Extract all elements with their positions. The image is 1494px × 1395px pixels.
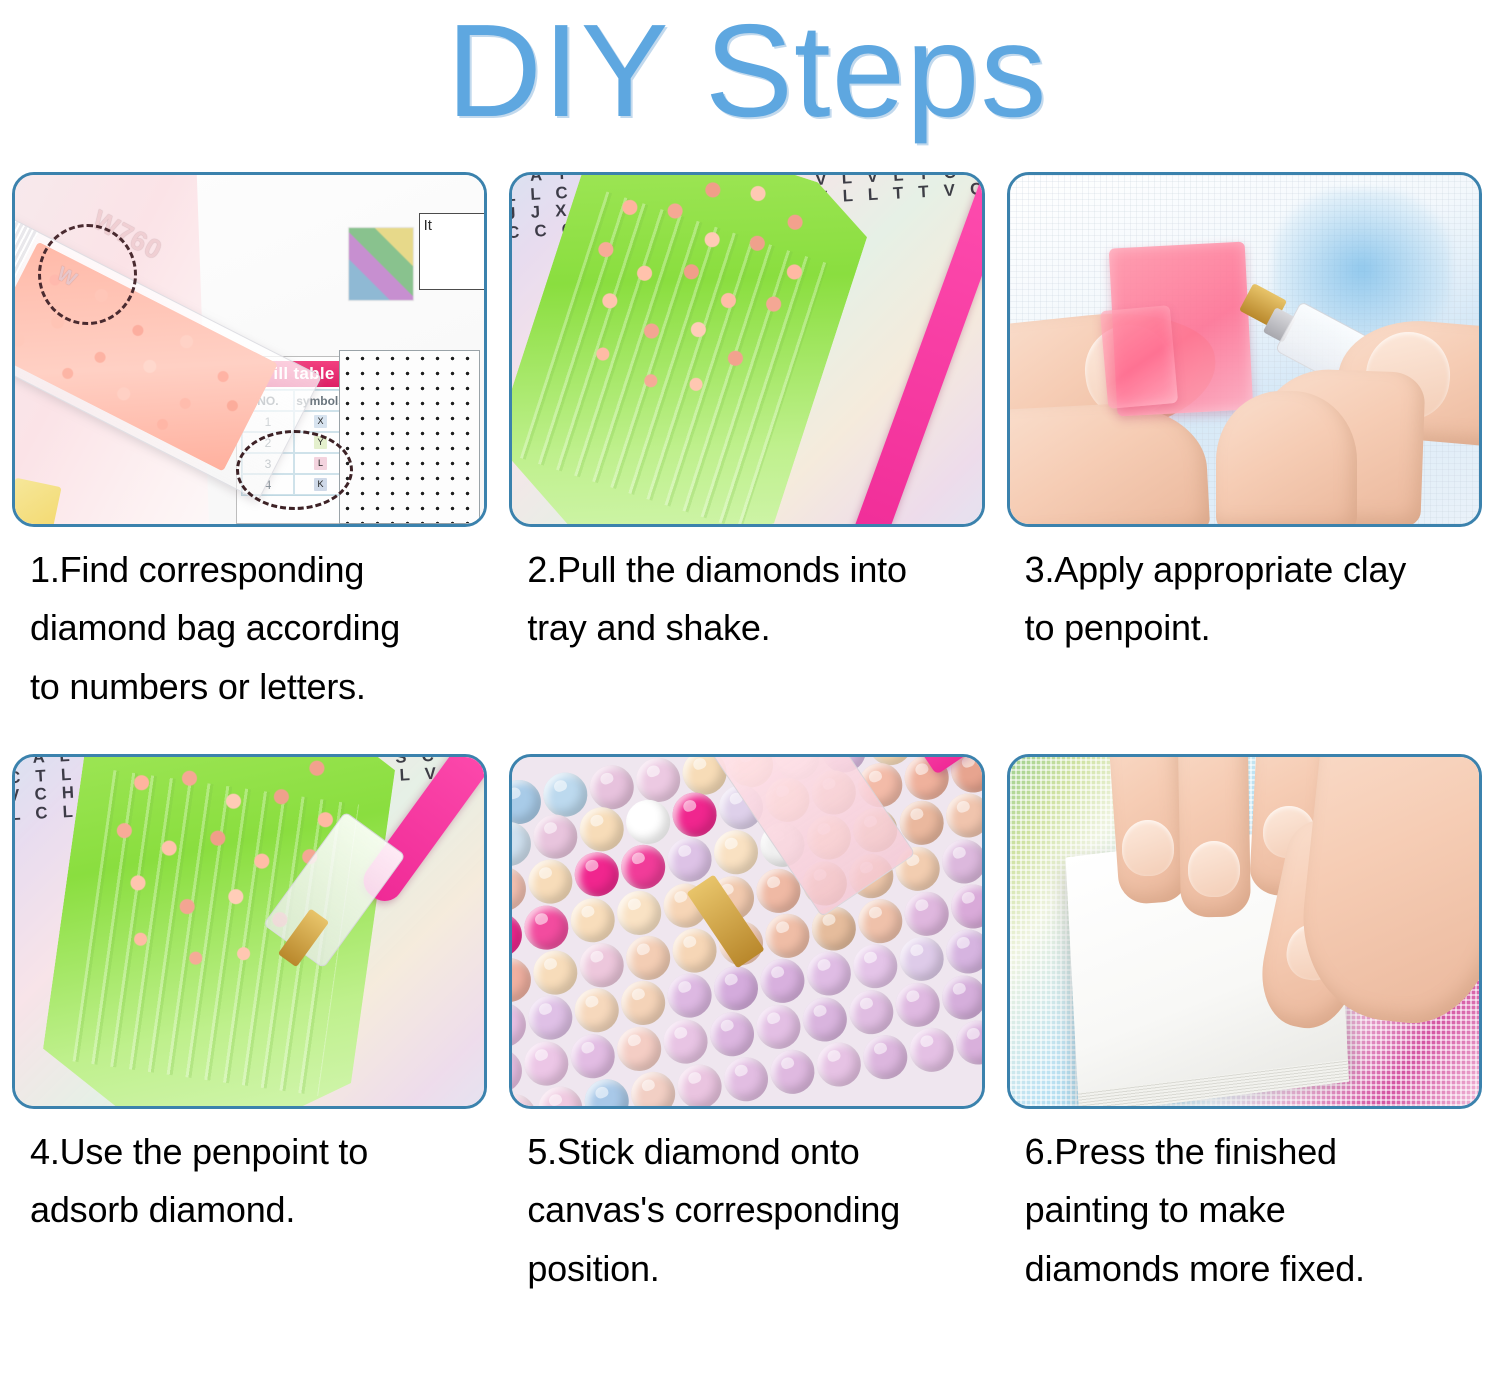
gem [707, 1009, 757, 1059]
gem [530, 947, 580, 997]
step-photo-4-scene: V A A L C J V T L Y C C T V V L T T V X … [15, 757, 484, 1106]
step-photo-3-scene [1010, 175, 1479, 524]
gem [897, 934, 947, 984]
center-finger [1216, 391, 1357, 524]
gem [846, 987, 896, 1037]
sheet-text-box: It [419, 213, 485, 290]
gem [762, 911, 812, 961]
gem [670, 789, 720, 839]
gem [623, 933, 673, 983]
gem [674, 1061, 724, 1105]
caption-line: to penpoint. [1025, 599, 1476, 657]
caption-line: position. [527, 1240, 978, 1298]
step-card-1: It Drill table NO. symbols 1 X 2 Y 3 L 4 [12, 172, 487, 716]
step-photo-2-scene: X X A T L L T T C C T T V V L J V T V V … [512, 175, 981, 524]
caption-line: 5.Stick diamond onto [527, 1123, 978, 1181]
gem [623, 797, 673, 847]
step-photo-2: X X A T L L T T C C T T V V L J V T V V … [509, 172, 984, 527]
step-card-4: V A A L C J V T L Y C C T V V L T T V X … [12, 754, 487, 1298]
gem [512, 864, 529, 914]
gem [512, 909, 525, 959]
gem [753, 1001, 803, 1051]
step-card-5: 5.Stick diamond onto canvas's correspond… [509, 754, 984, 1298]
step-photo-4: V A A L C J V T L Y C C T V V L T T V X … [12, 754, 487, 1109]
diy-steps-grid: It Drill table NO. symbols 1 X 2 Y 3 L 4 [0, 172, 1494, 1298]
gem [939, 972, 982, 1022]
gem [572, 985, 622, 1035]
gem [711, 963, 761, 1013]
caption-line: 4.Use the penpoint to [30, 1123, 481, 1181]
step-card-3: 3.Apply appropriate clay to penpoint. [1007, 172, 1482, 716]
gem [567, 1031, 617, 1081]
symbol-badge: X [314, 415, 327, 428]
gem [814, 1039, 864, 1089]
gem [660, 1016, 710, 1066]
gem [721, 1054, 771, 1104]
step-card-2: X X A T L L T T C C T T V V L J V T V V … [509, 172, 984, 716]
gem [906, 1025, 956, 1075]
gem [628, 1069, 678, 1106]
caption-line: diamond bag according [30, 599, 481, 657]
gem [860, 1032, 910, 1082]
gem [711, 827, 761, 877]
gem [512, 1046, 525, 1096]
caption-line: painting to make [1025, 1181, 1476, 1239]
gem [577, 940, 627, 990]
fingernail [1188, 841, 1240, 897]
gem [521, 1038, 571, 1088]
caption-line: tray and shake. [527, 599, 978, 657]
gem [670, 925, 720, 975]
gem [530, 811, 580, 861]
caption-line: 1.Find corresponding [30, 541, 481, 599]
gem [902, 889, 952, 939]
gem [953, 1017, 982, 1067]
gem [618, 978, 668, 1028]
caption-line: to numbers or letters. [30, 658, 481, 716]
caption-line: 6.Press the finished [1025, 1123, 1476, 1181]
dashed-circle-annotation-rows [236, 430, 353, 510]
gem [577, 804, 627, 854]
gem [572, 849, 622, 899]
dot-pattern-sheet [339, 350, 480, 525]
step-photo-1-scene: It Drill table NO. symbols 1 X 2 Y 3 L 4 [15, 175, 484, 524]
page-title: DIY Steps [447, 2, 1048, 141]
step-caption-5: 5.Stick diamond onto canvas's correspond… [509, 1109, 984, 1298]
clay-block-fold [1099, 305, 1178, 408]
step-photo-5 [509, 754, 984, 1109]
gem [526, 857, 576, 907]
row-spacer [12, 716, 1482, 754]
gem [512, 1091, 539, 1106]
gem [809, 903, 859, 953]
caption-line: diamonds more fixed. [1025, 1240, 1476, 1298]
gem [804, 949, 854, 999]
step-caption-6: 6.Press the finished painting to make di… [1007, 1109, 1482, 1298]
gem [892, 979, 942, 1029]
gem [521, 902, 571, 952]
step-card-6: 6.Press the finished painting to make di… [1007, 754, 1482, 1298]
step-photo-3 [1007, 172, 1482, 527]
fingernail [1122, 820, 1174, 876]
painting-thumbnail [348, 227, 414, 300]
step-photo-1: It Drill table NO. symbols 1 X 2 Y 3 L 4 [12, 172, 487, 527]
caption-line: 2.Pull the diamonds into [527, 541, 978, 599]
gem [665, 971, 715, 1021]
step-photo-6-scene [1010, 757, 1479, 1106]
gem [512, 1000, 529, 1050]
step-photo-5-scene [512, 757, 981, 1106]
gem [939, 836, 982, 886]
step-caption-4: 4.Use the penpoint to adsorb diamond. [12, 1109, 487, 1240]
step-photo-6 [1007, 754, 1482, 1109]
sheet-note-text: It [424, 217, 432, 234]
gem [948, 881, 982, 931]
page-header: DIY Steps [0, 0, 1494, 172]
gem [943, 791, 981, 841]
gem [614, 887, 664, 937]
caption-line: adsorb diamond. [30, 1181, 481, 1239]
gem [758, 956, 808, 1006]
gem [614, 1023, 664, 1073]
caption-line: canvas's corresponding [527, 1181, 978, 1239]
step-caption-3: 3.Apply appropriate clay to penpoint. [1007, 527, 1482, 658]
gem [567, 895, 617, 945]
gem [767, 1047, 817, 1097]
gem [851, 941, 901, 991]
gem [618, 842, 668, 892]
dashed-circle-annotation-code [38, 224, 137, 325]
caption-line: 3.Apply appropriate clay [1025, 541, 1476, 599]
step-caption-2: 2.Pull the diamonds into tray and shake. [509, 527, 984, 658]
gem [799, 994, 849, 1044]
gem [526, 993, 576, 1043]
gem [943, 927, 981, 977]
step-caption-1: 1.Find corresponding diamond bag accordi… [12, 527, 487, 716]
gem [855, 896, 905, 946]
